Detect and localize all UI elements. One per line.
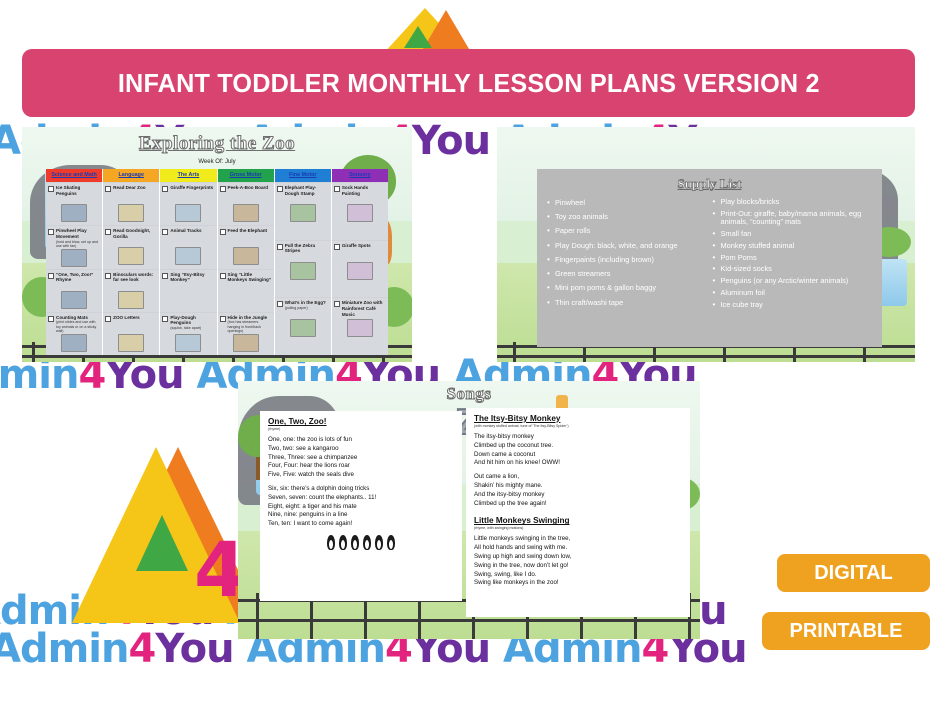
- activity-thumbnail: [347, 204, 373, 222]
- activity-thumbnail: [61, 334, 87, 352]
- activity-thumbnail: [347, 262, 373, 280]
- activity-thumbnail: [233, 204, 259, 222]
- plan-activity-label: Giraffe Fingerprints: [170, 185, 214, 191]
- checkbox-icon[interactable]: [105, 273, 111, 279]
- plan-activity-label: Play-Dough Penguins(squish, take apart): [170, 315, 214, 331]
- plan-column-cells: Sock Hands PaintingGiraffe SpotsMiniatur…: [332, 182, 388, 355]
- title-banner: INFANT TODDLER MONTHLY LESSON PLANS VERS…: [22, 49, 915, 117]
- plan-column-header: Language: [103, 169, 159, 182]
- supply-list-card[interactable]: Supply List PinwheelToy zoo animalsPaper…: [497, 127, 915, 362]
- supply-list-item: Monkey stuffed animal: [713, 242, 873, 251]
- plan-activity-label: What’s in the Egg?(pulling paper): [285, 300, 329, 310]
- checkbox-icon[interactable]: [220, 273, 226, 279]
- plan-activity-cell[interactable]: Giraffe Spots: [332, 241, 388, 298]
- plan-column-cells: Ice Skating PenguinsPinwheel Play Moveme…: [46, 182, 102, 355]
- plan-activity-label: Hide in the Jungle(box has streamers han…: [228, 315, 272, 334]
- plan-column-cells: Giraffe FingerprintsAnimal TracksSing “I…: [160, 182, 216, 355]
- song-card-monkey-songs[interactable]: The Itsy-Bitsy Monkey (with monkey stuff…: [466, 408, 690, 617]
- checkbox-icon[interactable]: [220, 229, 226, 235]
- supply-list-item: Toy zoo animals: [547, 212, 707, 223]
- plan-activity-cell[interactable]: Read Goodnight, Gorilla: [103, 226, 159, 268]
- plan-activity-note: (hold and blow, set up and use with fan): [56, 240, 100, 249]
- plan-activity-cell[interactable]: Miniature Zoo with Rainforest Café Music: [332, 298, 388, 355]
- plan-activity-cell[interactable]: Hide in the Jungle(box has streamers han…: [218, 313, 274, 355]
- song-subtitle-2: (rhyme, with swinging motions): [474, 526, 682, 530]
- checkbox-icon[interactable]: [334, 301, 340, 307]
- supply-list-item: Mini pom poms & gallon baggy: [547, 283, 707, 294]
- plan-activity-label: Binoculars words: far see look: [113, 272, 157, 283]
- plan-column-gross-motor[interactable]: Gross MotorPeek-A-Boo BoardFeed the Elep…: [218, 169, 275, 355]
- plan-activity-cell[interactable]: Elephant Play-Dough Stamp: [275, 183, 331, 240]
- supply-list-item: Play Dough: black, white, and orange: [547, 241, 707, 252]
- lesson-plan-table[interactable]: Science and MathIce Skating PenguinsPinw…: [46, 169, 388, 355]
- plan-column-fine-motor[interactable]: Fine MotorElephant Play-Dough StampPull …: [275, 169, 332, 355]
- plan-activity-cell[interactable]: Counting Mats(print slides and use with …: [46, 313, 102, 355]
- checkbox-icon[interactable]: [334, 244, 340, 250]
- plan-column-sensory[interactable]: SensorySock Hands PaintingGiraffe SpotsM…: [332, 169, 388, 355]
- checkbox-icon[interactable]: [48, 186, 54, 192]
- checkbox-icon[interactable]: [105, 186, 111, 192]
- plan-activity-cell[interactable]: Pull the Zebra Stripes: [275, 241, 331, 298]
- song-subtitle: (with monkey stuffed animal; tune of ‘Th…: [474, 424, 682, 428]
- checkbox-icon[interactable]: [220, 186, 226, 192]
- checkbox-icon[interactable]: [277, 186, 283, 192]
- plan-activity-cell[interactable]: Sing “Little Monkeys Swinging”: [218, 270, 274, 312]
- activity-thumbnail: [118, 334, 144, 352]
- plan-activity-cell[interactable]: Read Dear Zoo: [103, 183, 159, 225]
- plan-activity-label: “One, Two, Zoo!” Rhyme: [56, 272, 100, 283]
- activity-thumbnail: [118, 204, 144, 222]
- checkbox-icon[interactable]: [162, 316, 168, 322]
- activity-thumbnail: [61, 204, 87, 222]
- plan-activity-label: Read Dear Zoo: [113, 185, 157, 191]
- lesson-plan-grid-card[interactable]: Exploring the Zoo Week Of: July Science …: [22, 127, 412, 362]
- checkbox-icon[interactable]: [48, 273, 54, 279]
- plan-activity-label: Pull the Zebra Stripes: [285, 243, 329, 254]
- plan-column-header: Fine Motor: [275, 169, 331, 182]
- plan-activity-label: Counting Mats(print slides and use with …: [56, 315, 100, 334]
- supply-list-item: Ice cube tray: [713, 301, 873, 310]
- badge-printable[interactable]: PRINTABLE: [762, 612, 930, 650]
- activity-thumbnail: [290, 319, 316, 337]
- plan-activity-note: (pulling paper): [285, 306, 329, 310]
- plan-activity-label: Miniature Zoo with Rainforest Café Music: [342, 300, 386, 317]
- badge-digital[interactable]: DIGITAL: [777, 554, 930, 592]
- song-verse-1: The itsy-bitsy monkey Climbed up the coc…: [474, 433, 682, 468]
- supply-list-title: Supply List: [537, 169, 882, 192]
- supply-list-item: Aluminum foil: [713, 289, 873, 298]
- plan-activity-cell[interactable]: “One, Two, Zoo!” Rhyme: [46, 270, 102, 312]
- plan-activity-note: (print slides and use with toy animals o…: [56, 320, 100, 333]
- checkbox-icon[interactable]: [162, 229, 168, 235]
- checkbox-icon[interactable]: [48, 229, 54, 235]
- logo-a-counter: [136, 515, 188, 571]
- supply-list-item: Thin craft/washi tape: [547, 298, 707, 309]
- penguin-illustration: [268, 535, 454, 550]
- checkbox-icon[interactable]: [105, 316, 111, 322]
- plan-activity-note: (box has streamers hanging in front/back…: [228, 320, 272, 333]
- activity-thumbnail: [175, 334, 201, 352]
- plan-activity-label: Feed the Elephant: [228, 228, 272, 234]
- plan-activity-cell[interactable]: Binoculars words: far see look: [103, 270, 159, 312]
- lesson-plan-title: Exploring the Zoo: [22, 133, 412, 155]
- plan-activity-cell[interactable]: Feed the Elephant: [218, 226, 274, 268]
- plan-activity-label: ZOO Letters: [113, 315, 157, 321]
- plan-activity-cell[interactable]: What’s in the Egg?(pulling paper): [275, 298, 331, 355]
- poster-canvas: Admin4You Admin4You Admin4You Admin4You …: [0, 0, 938, 710]
- plan-activity-label: Elephant Play-Dough Stamp: [285, 185, 329, 196]
- checkbox-icon[interactable]: [162, 273, 168, 279]
- checkbox-icon[interactable]: [334, 186, 340, 192]
- plan-activity-label: Giraffe Spots: [342, 243, 386, 249]
- plan-activity-cell[interactable]: Sing “Itsy-Bitsy Monkey”: [160, 270, 216, 312]
- activity-thumbnail: [347, 319, 373, 337]
- supply-list-columns: PinwheelToy zoo animalsPaper rollsPlay D…: [537, 192, 882, 312]
- activity-thumbnail: [61, 291, 87, 309]
- song-verse-2: Six, six: there’s a dolphin doing tricks…: [268, 485, 454, 529]
- plan-column-language[interactable]: LanguageRead Dear ZooRead Goodnight, Gor…: [103, 169, 160, 355]
- plan-column-cells: Peek-A-Boo BoardFeed the ElephantSing “L…: [218, 182, 274, 355]
- plan-activity-label: Peek-A-Boo Board: [228, 185, 272, 191]
- supply-list-item: Kid-sized socks: [713, 265, 873, 274]
- song-2-verse: Little monkeys swinging in the tree, All…: [474, 535, 682, 588]
- plan-activity-note: (squish, take apart): [170, 326, 214, 330]
- supply-list-item: Print-Out: giraffe, baby/mama animals, e…: [713, 210, 873, 227]
- plan-activity-cell[interactable]: ZOO Letters: [103, 313, 159, 355]
- decor-letter-a-green: [404, 26, 432, 48]
- activity-thumbnail: [118, 247, 144, 265]
- supply-list-item: Pinwheel: [547, 198, 707, 209]
- page-title: INFANT TODDLER MONTHLY LESSON PLANS VERS…: [118, 68, 820, 99]
- checkbox-icon[interactable]: [277, 244, 283, 250]
- activity-thumbnail: [233, 247, 259, 265]
- checkbox-icon[interactable]: [48, 316, 54, 322]
- activity-thumbnail: [290, 262, 316, 280]
- checkbox-icon[interactable]: [277, 301, 283, 307]
- song-subtitle: (rhyme): [268, 427, 454, 431]
- plan-column-header: Sensory: [332, 169, 388, 182]
- song-verse-1: One, one: the zoo is lots of fun Two, tw…: [268, 436, 454, 480]
- activity-thumbnail: [290, 204, 316, 222]
- song-heading: The Itsy-Bitsy Monkey: [474, 414, 682, 423]
- supply-list-item: Fingerpaints (including brown): [547, 255, 707, 266]
- supply-list-item: Small fan: [713, 230, 873, 239]
- plan-activity-label: Sing “Itsy-Bitsy Monkey”: [170, 272, 214, 283]
- plan-activity-cell[interactable]: Giraffe Fingerprints: [160, 183, 216, 225]
- supply-list-item: Play blocks/bricks: [713, 198, 873, 207]
- song-card-one-two-zoo[interactable]: One, Two, Zoo! (rhyme) One, one: the zoo…: [260, 411, 462, 601]
- songs-title: Songs: [238, 384, 700, 404]
- checkbox-icon[interactable]: [162, 186, 168, 192]
- supply-list-left-column: PinwheelToy zoo animalsPaper rollsPlay D…: [547, 198, 707, 312]
- plan-activity-cell[interactable]: Play-Dough Penguins(squish, take apart): [160, 313, 216, 355]
- songs-card[interactable]: Zoo Songs One, Two, Zoo! (rhyme) One, on…: [238, 381, 700, 639]
- plan-column-the-arts[interactable]: The ArtsGiraffe FingerprintsAnimal Track…: [160, 169, 217, 355]
- plan-activity-label: Sing “Little Monkeys Swinging”: [228, 272, 272, 283]
- supply-list-item: Paper rolls: [547, 226, 707, 237]
- activity-thumbnail: [175, 247, 201, 265]
- plan-activity-label: Read Goodnight, Gorilla: [113, 228, 157, 239]
- supply-list-panel: Supply List PinwheelToy zoo animalsPaper…: [537, 169, 882, 347]
- checkbox-icon[interactable]: [105, 229, 111, 235]
- supply-list-item: Penguins (or any Arctic/winter animals): [713, 277, 873, 286]
- activity-thumbnail: [175, 204, 201, 222]
- checkbox-icon[interactable]: [220, 316, 226, 322]
- supply-list-right-column: Play blocks/bricksPrint-Out: giraffe, ba…: [713, 198, 873, 312]
- plan-activity-cell[interactable]: Peek-A-Boo Board: [218, 183, 274, 225]
- plan-column-cells: Elephant Play-Dough StampPull the Zebra …: [275, 182, 331, 355]
- activity-thumbnail: [61, 249, 87, 267]
- lesson-plan-week-of: Week Of: July: [22, 159, 412, 165]
- plan-column-header: The Arts: [160, 169, 216, 182]
- song-verse-2: Out came a lion, Shakin’ his mighty mane…: [474, 473, 682, 508]
- plan-activity-label: Ice Skating Penguins: [56, 185, 100, 196]
- song-heading: One, Two, Zoo!: [268, 417, 454, 426]
- plan-activity-label: Animal Tracks: [170, 228, 214, 234]
- plan-activity-label: Sock Hands Painting: [342, 185, 386, 196]
- plan-activity-label: Pinwheel Play Movement(hold and blow, se…: [56, 228, 100, 248]
- plan-column-header: Gross Motor: [218, 169, 274, 182]
- plan-activity-cell[interactable]: Sock Hands Painting: [332, 183, 388, 240]
- plan-activity-cell[interactable]: Ice Skating Penguins: [46, 183, 102, 225]
- plan-column-science-and-math[interactable]: Science and MathIce Skating PenguinsPinw…: [46, 169, 103, 355]
- plan-column-header: Science and Math: [46, 169, 102, 182]
- song-heading-2: Little Monkeys Swinging: [474, 516, 682, 525]
- plan-activity-cell[interactable]: Animal Tracks: [160, 226, 216, 268]
- activity-thumbnail: [233, 334, 259, 352]
- plan-activity-cell[interactable]: Pinwheel Play Movement(hold and blow, se…: [46, 226, 102, 268]
- supply-list-item: Green streamers: [547, 269, 707, 280]
- supply-list-item: Pom Poms: [713, 254, 873, 263]
- plan-column-cells: Read Dear ZooRead Goodnight, GorillaBino…: [103, 182, 159, 355]
- activity-thumbnail: [118, 291, 144, 309]
